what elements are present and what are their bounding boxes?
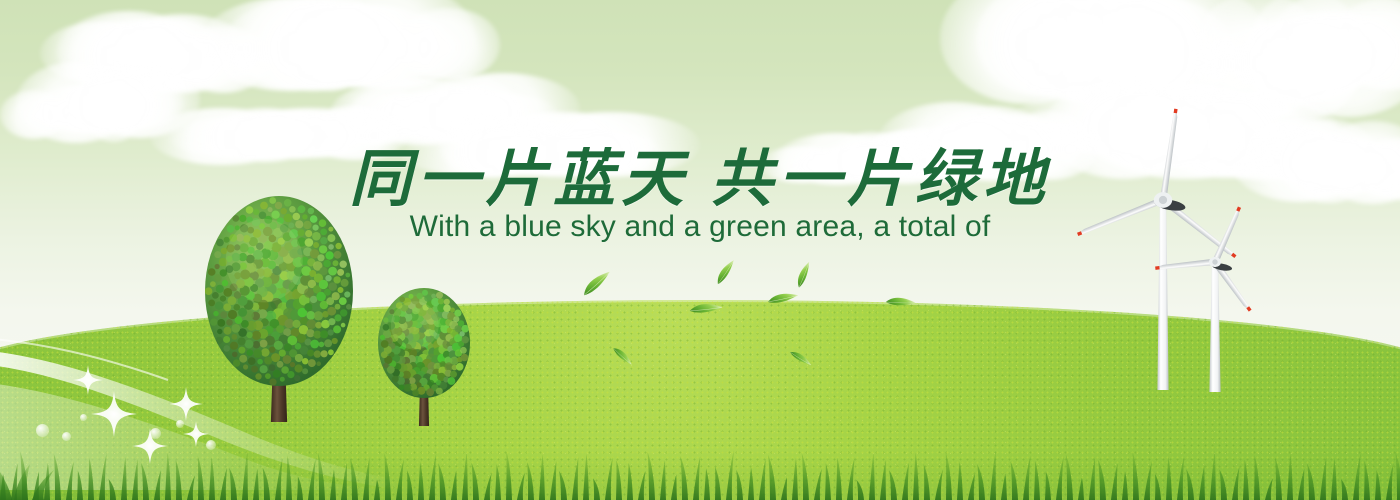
leaf-blade [768, 291, 798, 306]
bubble-2 [62, 432, 71, 441]
turbine-hub [1212, 259, 1217, 264]
foreground-grass-blades [0, 442, 1400, 500]
subtitle-english: With a blue sky and a green area, a tota… [0, 210, 1400, 244]
sparkle-3 [169, 387, 203, 421]
bubble-5 [176, 420, 184, 428]
small-tree [378, 288, 470, 426]
bubble-3 [80, 414, 87, 421]
bubble-1 [36, 424, 49, 437]
sparkle-2 [91, 391, 137, 437]
turbine-blade [1155, 259, 1215, 272]
blade-tip-marker [1155, 266, 1160, 270]
bubble-4 [150, 428, 161, 439]
turbine-tower [1209, 262, 1220, 392]
blade-tip-marker [1174, 109, 1178, 114]
grass-blade [0, 450, 1400, 500]
eco-banner: 同一片蓝天 共一片绿地 With a blue sky and a green … [0, 0, 1400, 500]
headline-chinese: 同一片蓝天 共一片绿地 [0, 128, 1400, 218]
